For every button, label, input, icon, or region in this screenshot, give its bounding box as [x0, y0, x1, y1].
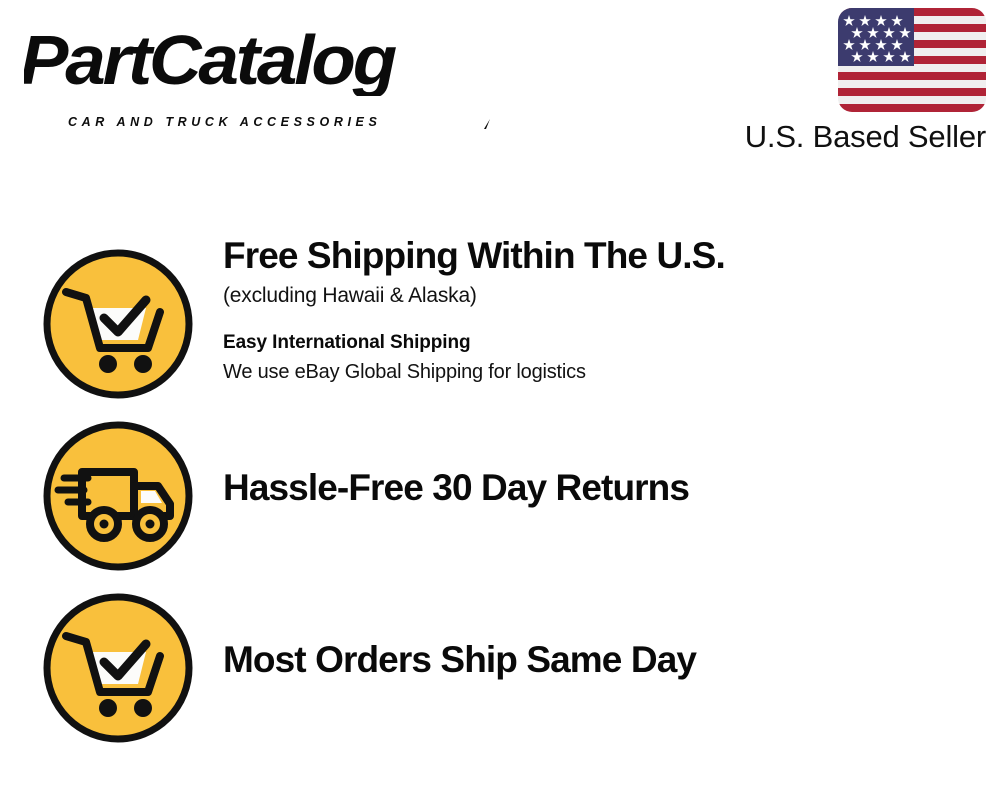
- feature-text-same-day-ship: Most Orders Ship Same Day: [223, 640, 980, 680]
- brand-tagline: CAR AND TRUCK ACCESSORIES: [68, 116, 381, 129]
- feature-subline-bold: Easy International Shipping: [223, 331, 980, 355]
- us-flag-icon: [838, 8, 986, 112]
- brand-wordmark-text: PartCatalog: [24, 24, 397, 96]
- brand-logo: PartCatalog CAR AND TRUCK ACCESSORIES: [24, 24, 494, 114]
- shopping-cart-check-icon: [42, 248, 194, 400]
- feature-text-free-shipping: Free Shipping Within The U.S. (excluding…: [223, 236, 980, 385]
- feature-subline-plain: We use eBay Global Shipping for logistic…: [223, 359, 980, 385]
- feature-headline: Free Shipping Within The U.S.: [223, 236, 980, 276]
- feature-text-returns: Hassle-Free 30 Day Returns: [223, 468, 980, 508]
- delivery-truck-icon: [42, 420, 194, 572]
- feature-headline: Most Orders Ship Same Day: [223, 640, 980, 680]
- shipping-info-banner: PartCatalog CAR AND TRUCK ACCESSORIES: [0, 0, 1000, 800]
- us-flag-svg: [838, 8, 986, 112]
- logo-swoosh-icon: [456, 119, 490, 131]
- feature-subline: (excluding Hawaii & Alaska): [223, 283, 980, 309]
- partcatalog-wordmark: PartCatalog: [24, 24, 494, 96]
- shopping-cart-check-icon: [42, 592, 194, 744]
- us-based-seller-label: U.S. Based Seller: [745, 118, 986, 155]
- feature-headline: Hassle-Free 30 Day Returns: [223, 468, 980, 508]
